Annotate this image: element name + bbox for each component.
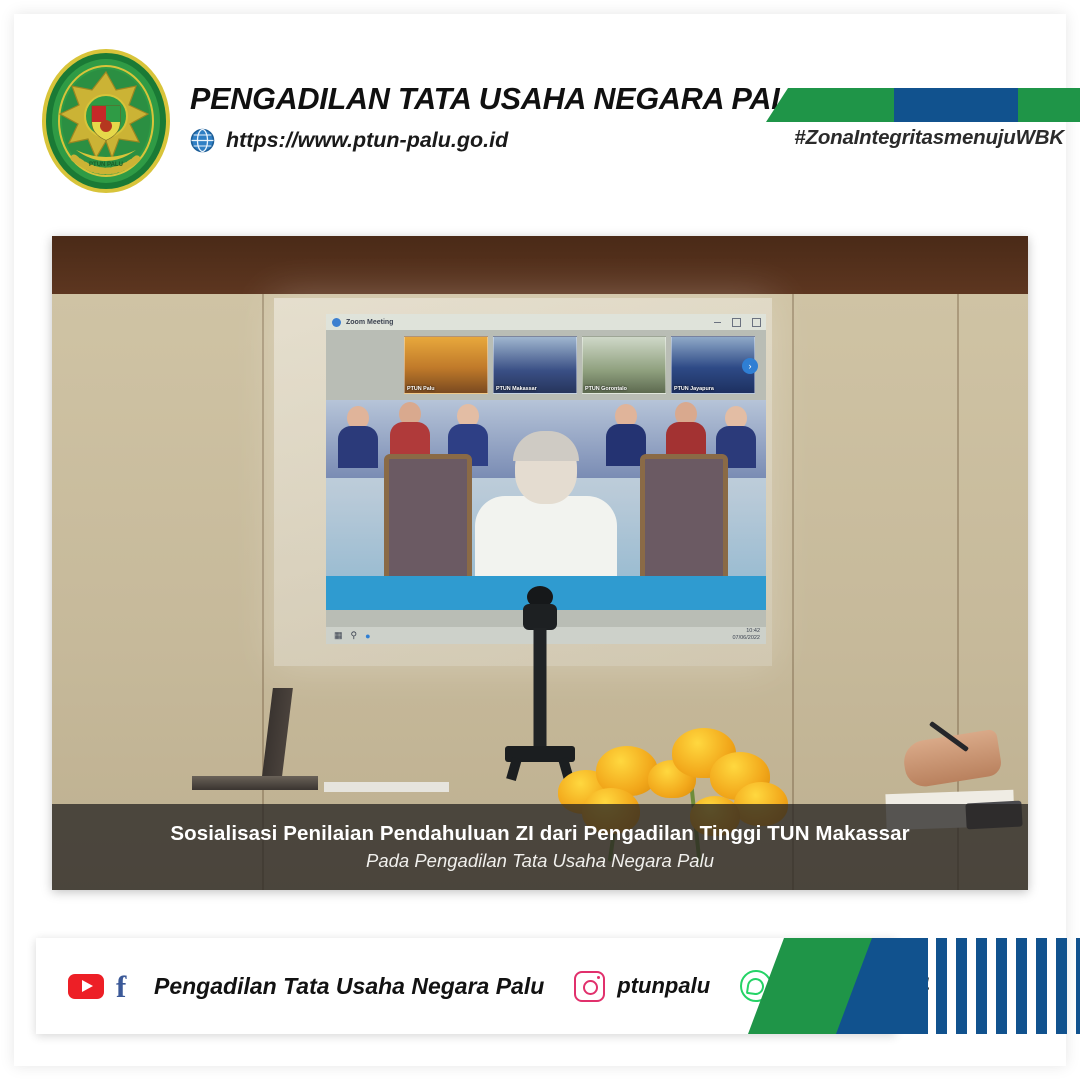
stripe-bar	[1036, 938, 1047, 1034]
social-account-name[interactable]: Pengadilan Tata Usaha Negara Palu	[154, 973, 544, 1000]
speaker-hair	[513, 431, 579, 461]
footer-accent-triangles	[748, 938, 928, 1034]
photo-caption-overlay: Sosialisasi Penilaian Pendahuluan ZI dar…	[52, 804, 1028, 890]
participant-tile[interactable]: PTUN Palu	[404, 336, 488, 394]
event-photo: 12 3 6 9 Zoom Meeting	[52, 236, 1028, 890]
website-url[interactable]: https://www.ptun-palu.go.id	[226, 128, 508, 153]
poster-footer: f Pengadilan Tata Usaha Negara Palu ptun…	[36, 938, 1044, 1034]
taskbar-time: 10:42	[746, 628, 760, 634]
wall-panel-seam	[262, 294, 264, 890]
meeting-room-scene: 12 3 6 9 Zoom Meeting	[52, 236, 1028, 890]
stripe-green-right	[1018, 88, 1080, 122]
stripe-bar	[956, 938, 967, 1034]
ceiling-beam	[52, 236, 1028, 294]
poster-header: PTUN PALU PENGADILAN TATA USAHA NEGARA P…	[0, 0, 1080, 200]
window-controls[interactable]	[714, 318, 761, 327]
stripe-bar	[916, 938, 927, 1034]
minimize-icon[interactable]	[714, 318, 721, 323]
stripe-bar	[1076, 938, 1080, 1034]
close-icon[interactable]	[752, 318, 761, 327]
instagram-handle[interactable]: ptunpalu	[617, 973, 710, 999]
stripe-bar	[1056, 938, 1067, 1034]
globe-icon	[190, 128, 215, 153]
stripe-green-left	[766, 88, 894, 122]
search-icon[interactable]: ⚲	[351, 630, 358, 641]
stripe-bar	[936, 938, 947, 1034]
audience-person	[336, 406, 380, 468]
facebook-icon[interactable]: f	[116, 971, 142, 1002]
website-row: https://www.ptun-palu.go.id	[190, 128, 811, 153]
ptun-palu-seal-logo: PTUN PALU	[36, 46, 176, 196]
maximize-icon[interactable]	[732, 318, 741, 327]
zona-integritas-hashtag: #ZonaIntegritasmenujuWBK	[794, 126, 1064, 150]
wooden-chair	[640, 454, 728, 584]
active-speaker-video	[326, 400, 766, 610]
camera-body	[523, 604, 557, 630]
tripod-pole	[534, 628, 547, 750]
participant-tile[interactable]: PTUN Gorontalo	[582, 336, 666, 394]
page-title: PENGADILAN TATA USAHA NEGARA PALU	[190, 82, 811, 117]
youtube-icon[interactable]	[68, 974, 104, 999]
app-icon[interactable]: ●	[365, 631, 370, 641]
participant-tile[interactable]: PTUN Makassar	[493, 336, 577, 394]
header-title-block: PENGADILAN TATA USAHA NEGARA PALU https:…	[190, 82, 811, 153]
participant-label: PTUN Gorontalo	[585, 386, 627, 392]
stripe-bar	[1016, 938, 1027, 1034]
poster-canvas: PTUN PALU PENGADILAN TATA USAHA NEGARA P…	[0, 0, 1080, 1080]
participant-label: PTUN Palu	[407, 386, 435, 392]
caption-title: Sosialisasi Penilaian Pendahuluan ZI dar…	[170, 822, 909, 846]
caption-subtitle: Pada Pengadilan Tata Usaha Negara Palu	[366, 850, 714, 872]
stripe-blue-center	[894, 88, 1018, 122]
taskbar-date: 07/06/2022	[732, 635, 760, 641]
zoom-title-bar: Zoom Meeting	[326, 314, 766, 330]
wooden-chair	[384, 454, 472, 584]
participant-label: PTUN Jayapura	[674, 386, 714, 392]
windows-start-icon[interactable]: ▦	[334, 630, 343, 641]
header-accent-stripes	[750, 88, 1080, 122]
paper-sheet	[324, 782, 449, 792]
footer-stripe-bars	[916, 938, 1080, 1034]
next-page-arrow-icon[interactable]: ›	[742, 358, 758, 374]
stripe-bar	[976, 938, 987, 1034]
stripe-bar	[996, 938, 1007, 1034]
taskbar-clock: 10:42 07/06/2022	[732, 628, 760, 642]
participant-label: PTUN Makassar	[496, 386, 537, 392]
zoom-window-title: Zoom Meeting	[346, 319, 393, 326]
instagram-icon[interactable]	[574, 971, 605, 1002]
zoom-app-icon	[332, 318, 341, 327]
svg-text:PTUN PALU: PTUN PALU	[89, 162, 123, 168]
laptop-keyboard	[192, 776, 318, 790]
participant-tile-strip: PTUN Palu PTUN Makassar PTUN Gorontalo P…	[404, 336, 755, 394]
person-body	[338, 426, 378, 468]
